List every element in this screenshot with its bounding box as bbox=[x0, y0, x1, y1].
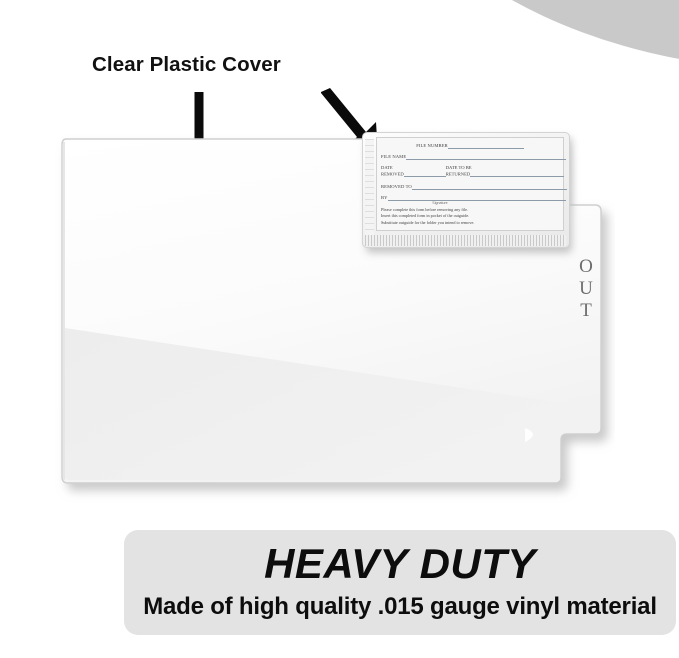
callout-label-clear-plastic-cover: Clear Plastic Cover bbox=[92, 53, 281, 77]
corner-arc-decoration bbox=[379, 0, 679, 90]
out-letter-o: O bbox=[575, 256, 597, 278]
field-file-number: FILE NUMBER bbox=[381, 141, 559, 149]
out-letter-u: U bbox=[575, 278, 597, 300]
field-file-name-rule bbox=[406, 154, 566, 160]
field-date-returned: DATE TO BE RETURNED bbox=[446, 165, 565, 177]
marketing-banner: HEAVY DUTY Made of high quality .015 gau… bbox=[124, 530, 676, 635]
product-image-canvas: Clear Plastic Cover bbox=[0, 0, 679, 658]
field-removed-to-label: REMOVED TO bbox=[381, 184, 412, 189]
form-card-bottom-hatch bbox=[365, 235, 566, 246]
field-file-name-label: FILE NAME bbox=[381, 154, 406, 159]
field-removed-to-rule bbox=[412, 184, 567, 190]
field-file-name: FILE NAME bbox=[381, 154, 559, 160]
field-date-returned-text: RETURNED bbox=[446, 171, 471, 176]
field-by-rule bbox=[388, 195, 566, 201]
field-date-removed: DATE REMOVED bbox=[381, 165, 446, 177]
field-date-returned-label-line2: RETURNED bbox=[446, 171, 565, 177]
field-by-label: BY bbox=[381, 195, 388, 200]
field-date-removed-label-line2: REMOVED bbox=[381, 171, 446, 177]
form-card-body: FILE NUMBER FILE NAME DATE REMOVED bbox=[362, 132, 570, 248]
banner-title: HEAVY DUTY bbox=[124, 540, 676, 588]
field-file-number-rule bbox=[448, 143, 524, 149]
form-instruction-line-3: Substitute outguide for the folder you i… bbox=[381, 220, 559, 226]
signature-caption: Signature bbox=[381, 201, 559, 205]
field-file-number-label: FILE NUMBER bbox=[416, 143, 448, 148]
field-by: BY bbox=[381, 195, 559, 201]
field-date-removed-rule bbox=[404, 171, 446, 177]
field-date-removed-text: REMOVED bbox=[381, 171, 404, 176]
out-guide-form-card: FILE NUMBER FILE NAME DATE REMOVED bbox=[362, 132, 572, 252]
form-card-left-perforation bbox=[365, 139, 374, 235]
field-dates-row: DATE REMOVED DATE TO BE RETURNED bbox=[381, 165, 559, 177]
form-instructions: Please complete this form before removin… bbox=[381, 207, 559, 226]
corner-arc-shape bbox=[379, 0, 679, 70]
out-tab-label: O U T bbox=[575, 256, 597, 322]
field-date-returned-rule bbox=[470, 171, 564, 177]
banner-subtitle: Made of high quality .015 gauge vinyl ma… bbox=[124, 593, 676, 621]
out-letter-t: T bbox=[575, 300, 597, 322]
form-fields-area: FILE NUMBER FILE NAME DATE REMOVED bbox=[376, 137, 564, 231]
field-removed-to: REMOVED TO bbox=[381, 184, 559, 190]
